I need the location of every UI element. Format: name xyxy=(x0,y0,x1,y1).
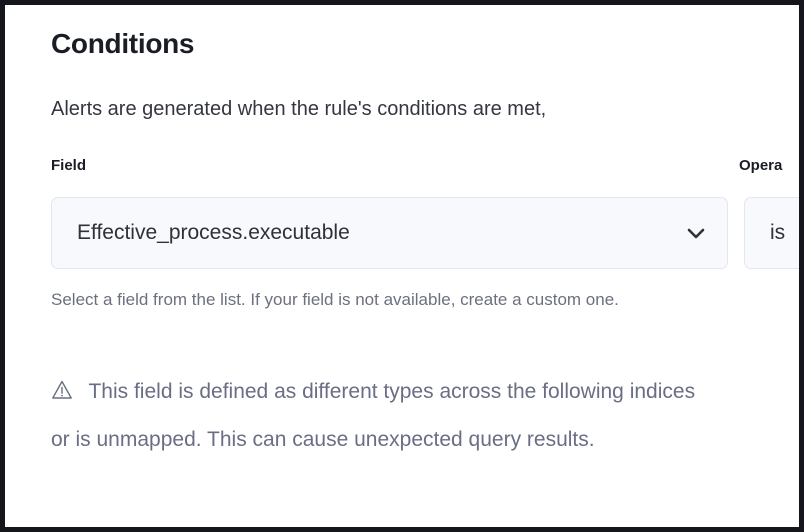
operator-combobox-value: is xyxy=(770,221,804,245)
field-combobox-value: Effective_process.executable xyxy=(77,221,673,245)
operator-combobox[interactable]: is xyxy=(744,197,804,269)
conditions-panel: Conditions Alerts are generated when the… xyxy=(5,5,804,527)
operator-label: Opera xyxy=(739,157,782,174)
page-title: Conditions xyxy=(51,28,194,60)
screenshot-viewport: Conditions Alerts are generated when the… xyxy=(0,0,804,532)
chevron-down-icon[interactable] xyxy=(683,220,709,246)
section-description: Alerts are generated when the rule's con… xyxy=(51,98,546,121)
field-type-warning: This field is defined as different types… xyxy=(51,368,711,464)
warning-triangle-icon xyxy=(51,379,73,401)
field-help-text: Select a field from the list. If your fi… xyxy=(51,284,691,315)
field-type-warning-text: This field is defined as different types… xyxy=(51,380,695,451)
field-label: Field xyxy=(51,157,86,174)
field-combobox[interactable]: Effective_process.executable xyxy=(51,197,728,269)
